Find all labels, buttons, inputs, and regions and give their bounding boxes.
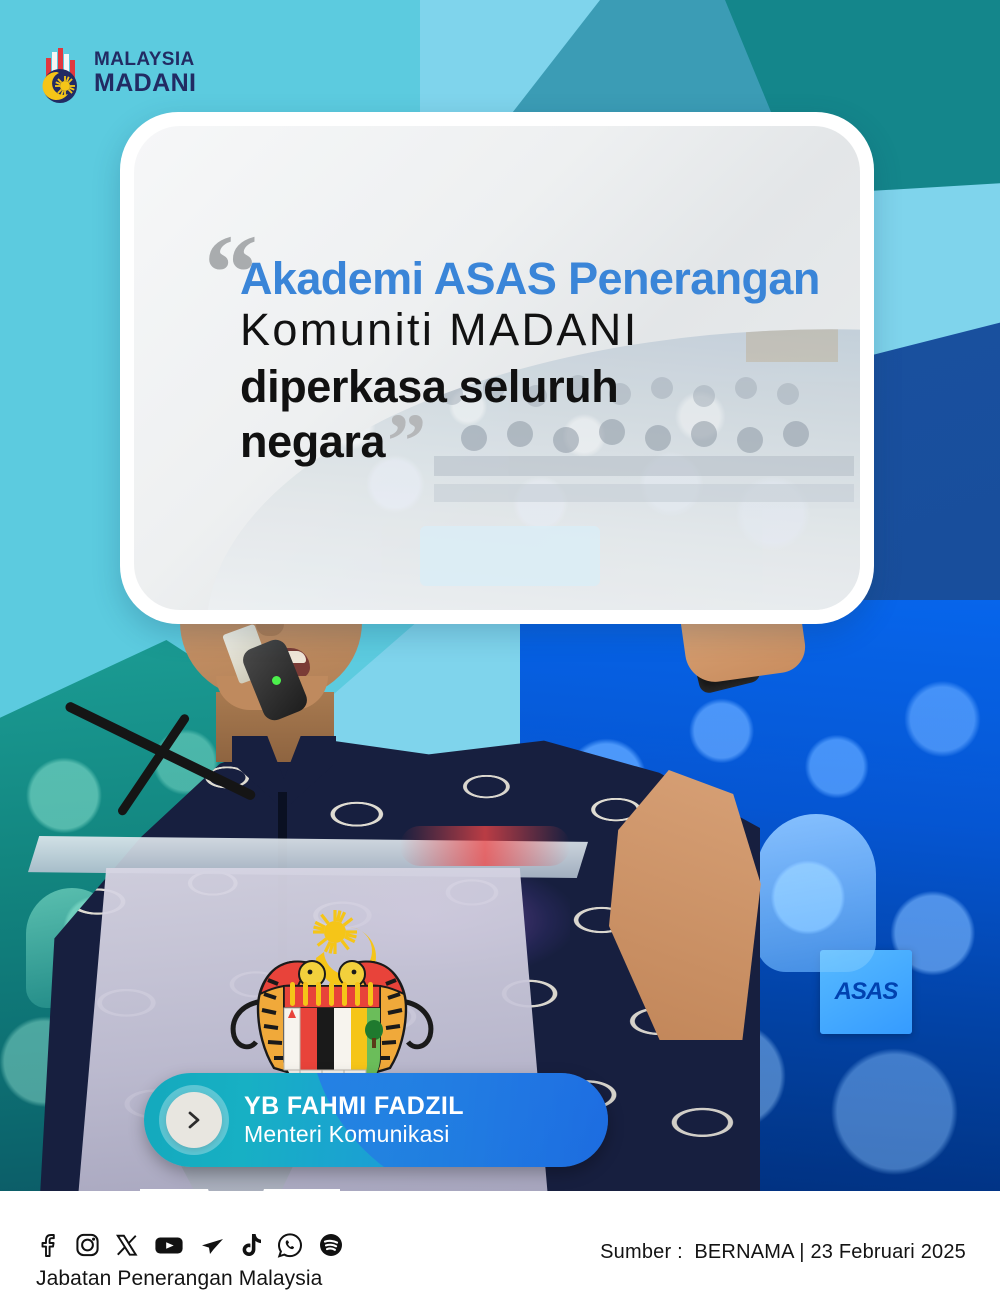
telegram-icon[interactable] [199, 1232, 225, 1258]
quote-card-inner: “ Akademi ASAS Penerangan Komuniti MADAN… [134, 126, 860, 610]
spotify-icon[interactable] [318, 1232, 344, 1258]
logo-text-malaysia: MALAYSIA [94, 50, 196, 69]
quote-line-2: Komuniti MADANI [240, 301, 838, 359]
poster-canvas: ASAS ASAS [0, 0, 1000, 1311]
tiktok-icon[interactable] [240, 1232, 262, 1258]
x-twitter-icon[interactable] [115, 1232, 139, 1258]
speaker-role: Menteri Komunikasi [244, 1121, 464, 1149]
quote-text-block: “ Akademi ASAS Penerangan Komuniti MADAN… [178, 178, 838, 470]
department-name: Jabatan Penerangan Malaysia [36, 1267, 322, 1291]
asas-booklet-label: ASAS [835, 978, 898, 1006]
quote-card: “ Akademi ASAS Penerangan Komuniti MADAN… [120, 112, 874, 624]
quote-open-mark: “ [204, 242, 254, 307]
speaker-name: YB FAHMI FADZIL [244, 1092, 464, 1121]
podium-light-streak [400, 826, 570, 866]
whatsapp-icon[interactable] [277, 1232, 303, 1258]
footer: Jabatan Penerangan Malaysia Sumber : BER… [0, 1191, 1000, 1311]
source-credit: Sumber : BERNAMA | 23 Februari 2025 [600, 1241, 966, 1264]
chevron-right-icon[interactable] [166, 1092, 222, 1148]
microphone-led [272, 676, 281, 685]
social-links [36, 1232, 344, 1258]
madani-logo-icon [38, 46, 90, 106]
instagram-icon[interactable] [75, 1232, 100, 1258]
malaysia-madani-logo[interactable]: MALAYSIA MADANI [38, 46, 238, 112]
quote-close-mark: ” [387, 397, 423, 484]
quote-line-4: negara [240, 416, 385, 467]
quote-line-3: diperkasa seluruh [240, 359, 838, 415]
speaker-name-badge: YB FAHMI FADZIL Menteri Komunikasi [144, 1073, 608, 1167]
facebook-icon[interactable] [36, 1232, 60, 1258]
youtube-icon[interactable] [154, 1232, 184, 1258]
logo-text-madani: MADANI [94, 71, 196, 96]
quote-line-1: Akademi ASAS Penerangan [240, 256, 838, 301]
